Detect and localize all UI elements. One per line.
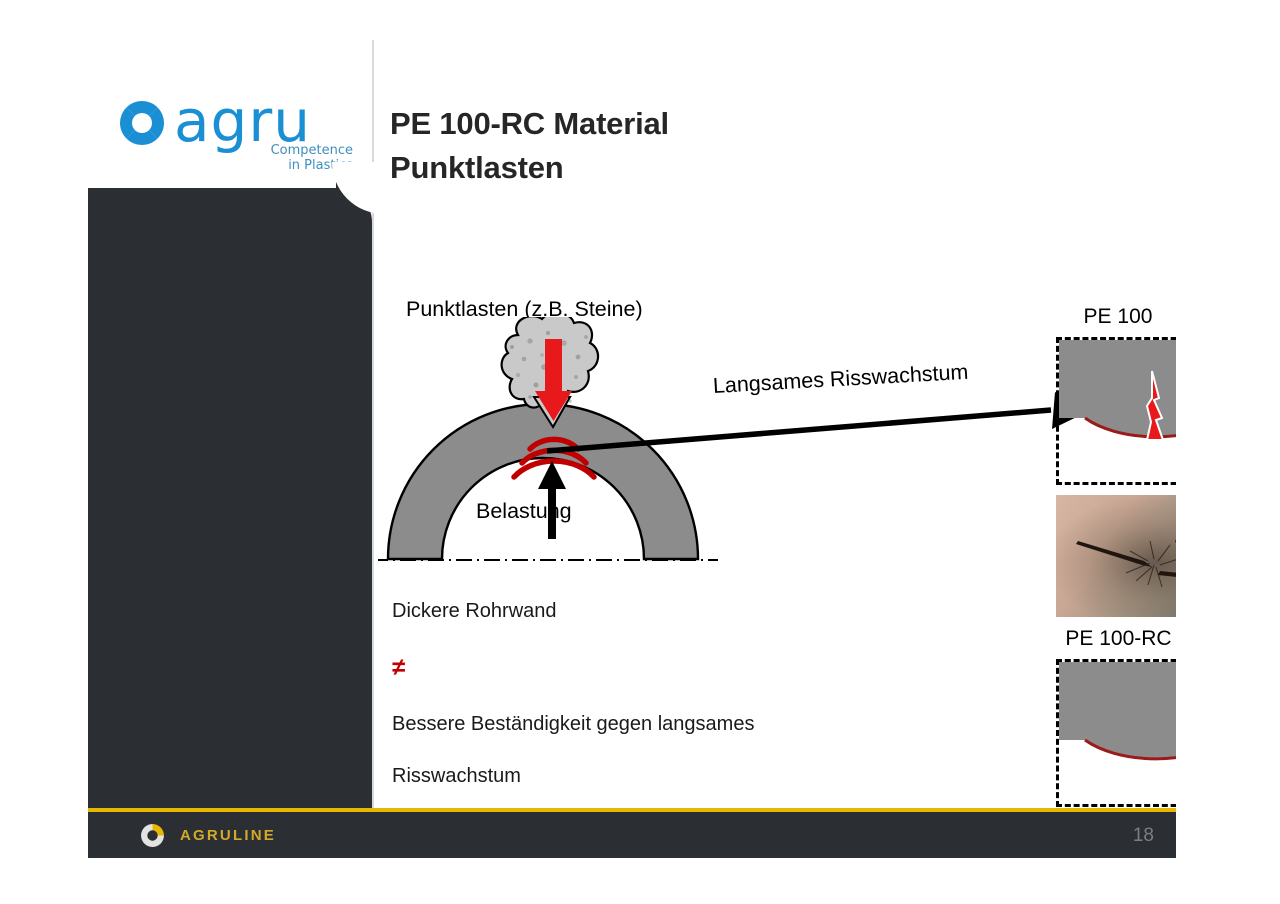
panel-caption-pe100: PE 100 bbox=[1018, 305, 1176, 329]
cracked-pipe-surface-photo bbox=[1056, 495, 1176, 617]
presentation-slide: agru Competence in Plastics PE 100-RC Ma… bbox=[88, 12, 1176, 858]
page-title-line1: PE 100-RC Material bbox=[390, 102, 669, 146]
page-number: 18 bbox=[1133, 825, 1154, 847]
agru-ring-icon bbox=[118, 99, 166, 147]
agruline-ring-icon bbox=[140, 823, 165, 848]
agru-wordmark: agru bbox=[174, 92, 311, 150]
loading-arrow-black bbox=[538, 461, 566, 539]
footer-brand-label: AGRULINE bbox=[180, 827, 276, 844]
not-equal-symbol: ≠ bbox=[392, 654, 405, 682]
pe100rc-material-block bbox=[1059, 662, 1176, 759]
panel-pe100rc-illustration bbox=[1059, 662, 1176, 804]
statement-line-3: Risswachstum bbox=[392, 765, 521, 788]
panel-pe100-illustration bbox=[1059, 340, 1176, 482]
vertical-divider bbox=[372, 40, 374, 812]
statement-line-1: Dickere Rohrwand bbox=[392, 600, 557, 623]
page-title: PE 100-RC Material Punktlasten bbox=[390, 102, 669, 190]
slow-crack-pointer-arrow bbox=[543, 389, 1103, 459]
pe100-material-block bbox=[1059, 340, 1176, 437]
dark-sidebar-panel bbox=[88, 188, 372, 812]
agru-tagline-line1: Competence bbox=[271, 144, 353, 159]
diagram-area: Punktlasten (z.B. Steine) Belastung Lang… bbox=[378, 277, 1176, 817]
agru-logo: agru Competence in Plastics bbox=[118, 94, 353, 184]
slide-footer: AGRULINE 18 bbox=[88, 812, 1176, 858]
panel-caption-pe100rc: PE 100-RC bbox=[1006, 627, 1176, 651]
statement-line-2: Bessere Beständigkeit gegen langsames bbox=[392, 713, 754, 736]
page-title-line2: Punktlasten bbox=[390, 146, 669, 190]
